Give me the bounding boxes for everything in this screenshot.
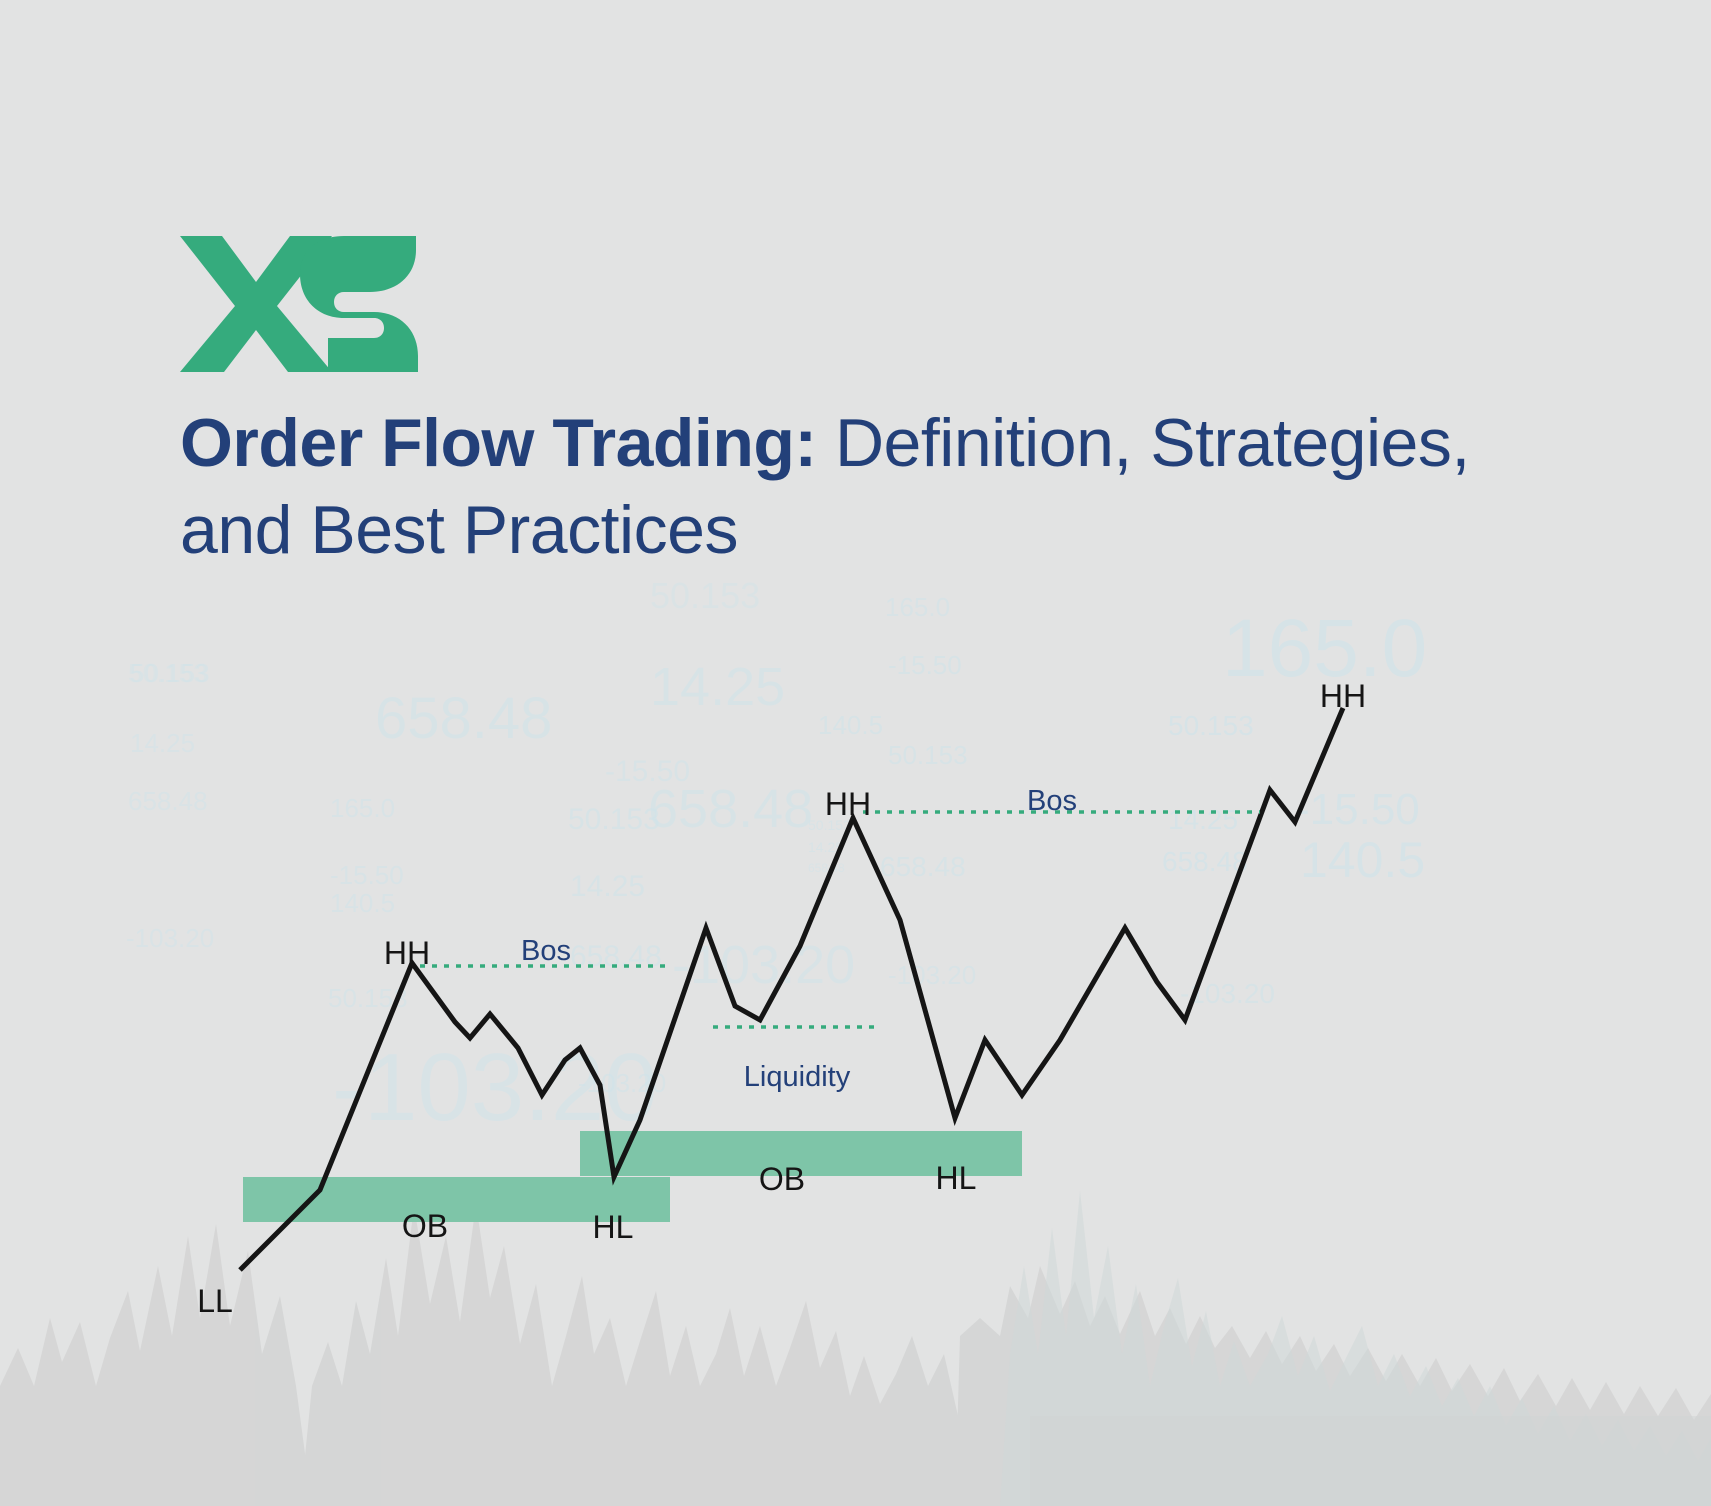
watermark-number: 658.48: [880, 853, 966, 881]
swing-label-hl: HL: [936, 1162, 977, 1194]
swing-label-hh: HH: [1320, 680, 1366, 712]
watermark-number: 14.25: [808, 840, 843, 854]
watermark-number: 50.153: [568, 805, 660, 835]
watermark-number: 140.5: [818, 712, 883, 738]
structure-dashed-lines: [420, 812, 1260, 1027]
watermark-number: 165.0: [330, 795, 395, 821]
watermark-number: 658.48: [375, 690, 552, 748]
watermark-number: -103.20: [672, 938, 855, 992]
watermark-number: 50.153: [1168, 712, 1254, 740]
order-block-label: OB: [402, 1210, 448, 1242]
watermark-number: 658.48: [570, 942, 662, 972]
watermark-number: 165.0: [885, 594, 950, 620]
watermark-number: 140.5: [1300, 835, 1425, 885]
watermark-number: 658.48: [648, 782, 813, 836]
xs-logo[interactable]: [178, 232, 418, 372]
watermark-number: 658.48: [1162, 848, 1248, 876]
liquidity-label: Liquidity: [744, 1063, 850, 1092]
watermark-number: -103.20: [888, 962, 976, 988]
swing-label-hh: HH: [384, 937, 430, 969]
watermark-number: -15.50: [605, 757, 690, 787]
watermark-number: -103.20: [126, 925, 214, 951]
swing-label-hl: HL: [593, 1211, 634, 1243]
price-structure-chart: [0, 0, 1711, 1506]
bos-label: Bos: [521, 937, 571, 966]
watermark-number: 50.153: [128, 660, 208, 686]
watermark-number: 658.48: [128, 788, 208, 814]
order-block-label: OB: [759, 1163, 805, 1195]
watermark-number: 14.25: [1168, 806, 1238, 834]
swing-label-ll: LL: [197, 1285, 233, 1317]
swing-label-hh: HH: [825, 788, 871, 820]
watermark-number: 14.25: [650, 660, 785, 714]
watermark-number: 50.153: [650, 578, 760, 614]
watermark-number: 50.153: [888, 742, 968, 768]
watermark-number: 50.153: [328, 985, 408, 1011]
watermark-number: 14.25: [570, 872, 645, 902]
background-watermark-numbers: 50.15314.25658.48-103.20165.0-15.50140.5…: [0, 0, 1711, 1506]
watermark-number: 658.48: [808, 862, 845, 874]
watermark-number: -15.50: [888, 652, 962, 678]
watermark-number: -15.50: [330, 862, 404, 888]
watermark-number: -15.50: [1295, 788, 1420, 832]
watermark-number: 14.25: [130, 730, 195, 756]
watermark-number: -103.20: [332, 1040, 658, 1136]
page-title-bold: Order Flow Trading:: [180, 405, 817, 481]
watermark-number: -103.20: [578, 1070, 666, 1096]
watermark-number: -103.20: [1180, 980, 1275, 1008]
page-title: Order Flow Trading: Definition, Strategi…: [180, 400, 1480, 574]
infographic-page: 50.15314.25658.48-103.20165.0-15.50140.5…: [0, 0, 1711, 1506]
bos-label: Bos: [1027, 787, 1077, 816]
watermark-number: 140.5: [330, 890, 395, 916]
watermark-number: 50.153: [130, 660, 210, 686]
